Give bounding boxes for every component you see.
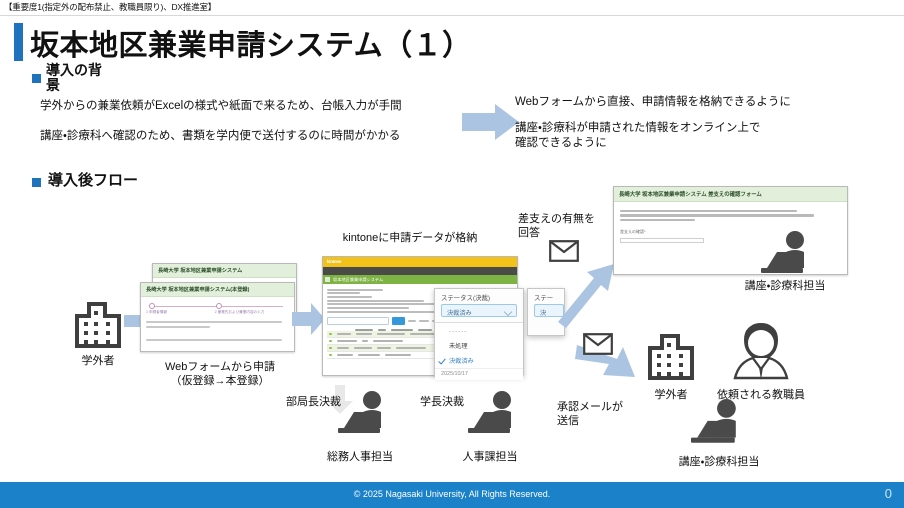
bullet-background: [32, 74, 41, 83]
confirm-form-title: 長崎大学 坂本地区兼業申請システム 差支えの確認フォーム: [614, 187, 847, 202]
search-icon[interactable]: [392, 317, 405, 325]
page-number: 0: [885, 486, 892, 501]
kintone-topbar: kintone: [323, 257, 517, 267]
status-popup-title: ステータス(決裁): [435, 289, 523, 304]
status-selected-value-secondary: 決: [540, 308, 546, 317]
status-option-approved-label: 決裁済み: [449, 358, 474, 365]
arrow-right-icon: [462, 102, 520, 142]
person-at-laptop-icon: [684, 398, 748, 448]
webform-step1-label: 1 申請者情報: [146, 310, 167, 315]
bullet-flow: [32, 178, 41, 187]
webform-caption: Webフォームから申請 （仮登録→本登録）: [140, 360, 300, 388]
person-at-laptop-icon: [755, 230, 815, 278]
building-icon: [648, 330, 694, 382]
label-course-dept-bottom: 講座・診療科担当: [654, 453, 784, 469]
footer-bar: © 2025 Nagasaki University, All Rights R…: [0, 482, 904, 508]
kintone-toolbar[interactable]: [323, 267, 517, 275]
search-input[interactable]: [327, 317, 389, 325]
kintone-app-name: 坂本地区兼業申請システム: [333, 277, 383, 283]
webform-front-body: 1 申請者情報 2 兼業先および兼業内容の入力: [141, 297, 294, 348]
page-title: 坂本地区兼業申請システム（１）: [30, 22, 472, 64]
person-at-laptop-icon: [332, 390, 392, 438]
background-goal-1: Webフォームから直接、申請情報を格納できるように: [515, 95, 791, 110]
label-general-affairs: 総務人事担当: [300, 448, 420, 464]
header-divider: [0, 15, 904, 16]
background-goal-2: 講座・診療科が申請された情報をオンライン上で 確認できるように: [515, 121, 760, 151]
app-icon: [325, 277, 330, 282]
background-problem-2: 講座・診療科へ確認のため、書類を学内便で送付するのに時間がかかる: [40, 127, 400, 143]
footer-copyright: © 2025 Nagasaki University, All Rights R…: [0, 489, 904, 499]
person-in-suit-icon: [730, 322, 792, 382]
status-select[interactable]: 決裁済み: [441, 304, 517, 317]
label-hr-division: 人事課担当: [430, 448, 550, 464]
section-label-background: 導入の背 景: [46, 63, 102, 93]
kintone-caption: kintoneに申請データが格納: [330, 231, 490, 245]
slide-root: 【重要度1(指定外の配布禁止、教職員限り)、DX推進室】 坂本地区兼業申請システ…: [0, 0, 904, 508]
label-president: 学長決裁: [420, 395, 464, 409]
webform-stepper: 1 申請者情報 2 兼業先および兼業内容の入力: [146, 303, 289, 314]
check-icon: [438, 357, 446, 365]
status-option-list[interactable]: ------ 未処理 決裁済み 2025/10/17: [435, 322, 523, 380]
webform-step2-label: 2 兼業先および兼業内容の入力: [215, 310, 265, 315]
status-option-blank[interactable]: ------: [435, 325, 523, 338]
classification-tag: 【重要度1(指定外の配布禁止、教職員限り)、DX推進室】: [4, 1, 216, 13]
building-icon: [75, 298, 121, 350]
reply-caption: 差支えの有無を 回答: [518, 212, 595, 240]
arrow-right-icon: [556, 260, 616, 330]
envelope-icon: [549, 240, 579, 262]
status-dropdown-popup[interactable]: ステータス(決裁) 決裁済み ------ 未処理 決裁済み 2025/10/1…: [434, 288, 524, 376]
section-label-flow: 導入後フロー: [48, 173, 138, 188]
arrow-right-icon: [292, 300, 326, 338]
label-course-dept-top: 講座・診療科担当: [725, 277, 845, 293]
status-option-approved[interactable]: 決裁済み: [435, 353, 523, 368]
kintone-app-bar: 坂本地区兼業申請システム: [323, 275, 517, 284]
kintone-brand: kintone: [327, 259, 341, 264]
chevron-down-icon[interactable]: [504, 308, 512, 316]
confirm-form-answer-input[interactable]: [620, 238, 704, 243]
approval-mail-caption: 承認メールが 送信: [557, 400, 623, 428]
person-at-laptop-icon: [462, 390, 522, 438]
webform-back-title: 長崎大学 坂本地区兼業申請システム: [153, 264, 296, 278]
status-date-row: 2025/10/17: [435, 368, 523, 380]
label-external-party-left: 学外者: [70, 352, 126, 368]
webform-front-title: 長崎大学 坂本地区兼業申請システム(本登録): [141, 283, 294, 297]
envelope-icon: [583, 333, 613, 355]
title-accent-bar: [14, 23, 23, 61]
background-problem-1: 学外からの兼業依頼がExcelの様式や紙面で来るため、台帳入力が手間: [40, 97, 402, 113]
webform-front-window[interactable]: 長崎大学 坂本地区兼業申請システム(本登録) 1 申請者情報 2 兼業先および兼…: [140, 282, 295, 352]
status-selected-value: 決裁済み: [447, 308, 472, 317]
status-option-unprocessed[interactable]: 未処理: [435, 338, 523, 353]
